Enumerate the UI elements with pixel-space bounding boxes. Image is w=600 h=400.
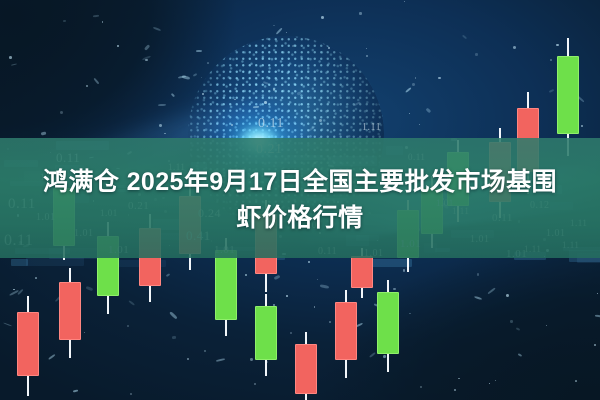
particle-dot [329,321,331,323]
candlestick-down [335,290,357,378]
particle-dot [264,101,267,104]
particle-dot [359,12,361,14]
candlestick-up [377,280,399,372]
title-line-1: 鸿满仓 2025年9月17日全国主要批发市场基围 [43,164,557,200]
candle-body [295,344,317,394]
particle-dot [204,350,205,351]
particle-dot [60,111,63,114]
candle-body [335,302,357,360]
chart-bar-texture [11,259,28,266]
particle-dot [86,85,88,87]
candle-body [351,256,373,288]
particle-dot [412,83,415,86]
particle-dot [409,313,410,314]
banner-title: 鸿满仓 2025年9月17日全国主要批发市场基围 虾价格行情 [0,160,600,240]
particle-dot [328,47,329,48]
candle-body [17,312,39,376]
particle-dot [250,358,252,360]
candlestick-up [255,294,277,376]
price-label: 0.11 [258,116,284,132]
particle-dot [321,16,324,19]
particle-dot [458,378,460,380]
particle-dot [550,59,552,61]
particle-dot [254,383,256,385]
particle-streak [510,320,513,323]
candlestick-down [295,332,317,400]
particle-dot [438,77,440,79]
particle-dot [231,124,233,126]
particle-dot [415,77,416,78]
particle-dot [207,62,209,64]
particle-dot [127,325,129,327]
particle-dot [513,46,516,49]
title-line-2: 虾价格行情 [236,200,363,236]
candlestick-down [17,296,39,396]
particle-dot [594,344,596,346]
particle-dot [286,32,287,33]
candle-body [557,56,579,134]
particle-dot [202,93,203,94]
price-label: 1.11 [362,122,381,133]
particle-dot [292,45,294,47]
candlestick-down [59,268,81,358]
candle-body [377,292,399,354]
banner-image: 0.110.110.111.011.011.011.011.010.210.11… [0,0,600,400]
candle-body [59,282,81,340]
particle-dot [273,88,276,91]
particle-dot [477,273,479,275]
candle-body [255,306,277,360]
particle-dot [366,55,368,57]
candle-body [215,250,237,320]
particle-dot [35,277,37,279]
particle-dot [475,53,477,55]
